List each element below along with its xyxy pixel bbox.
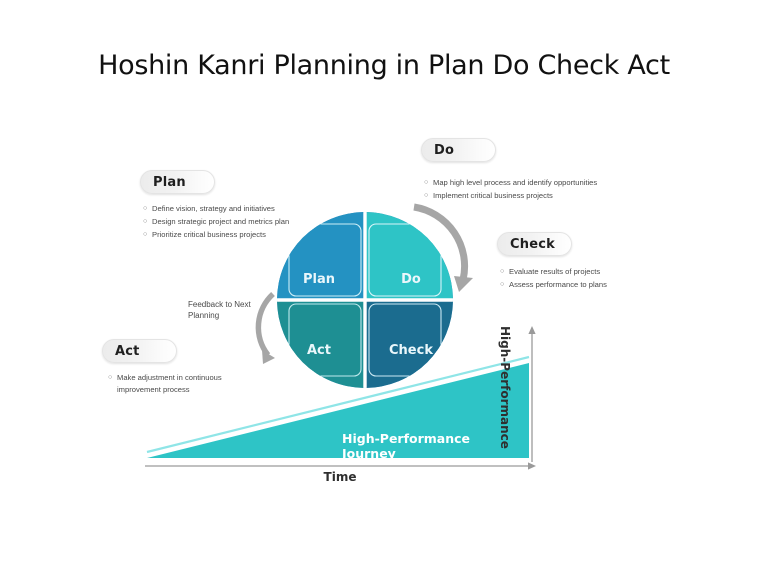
quadrant-label-do: Do bbox=[371, 272, 451, 287]
journey-label: High-Performance Journey bbox=[342, 431, 522, 461]
quadrant-label-check: Check bbox=[371, 343, 451, 358]
slide-canvas: Hoshin Kanri Planning in Plan Do Check A… bbox=[0, 0, 768, 576]
y-axis-label: High-Performance bbox=[498, 326, 512, 456]
wheel-label-layer: Plan Do Act Check bbox=[275, 210, 455, 390]
quadrant-label-plan: Plan bbox=[279, 272, 359, 287]
x-axis-label: Time bbox=[265, 470, 415, 484]
quadrant-label-act: Act bbox=[279, 343, 359, 358]
x-axis-arrowhead-icon bbox=[528, 462, 536, 469]
y-axis-arrowhead-icon bbox=[528, 326, 535, 334]
feedback-note: Feedback to Next Planning bbox=[188, 299, 268, 321]
